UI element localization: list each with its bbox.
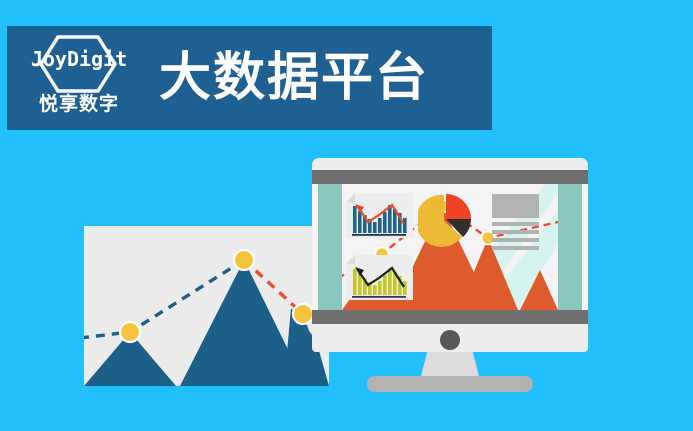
placeholder-line <box>492 246 539 250</box>
axis-line <box>352 296 406 298</box>
axis-line <box>352 234 406 236</box>
data-point-marker[interactable] <box>234 250 254 270</box>
left-mountain-chart-panel <box>84 226 329 386</box>
screen-pie-chart[interactable] <box>418 193 474 249</box>
placeholder-line <box>492 230 539 234</box>
screen-stripe-left <box>318 184 342 310</box>
mini-bar-card-blue[interactable] <box>346 193 413 238</box>
screen-dashboard <box>342 184 558 310</box>
brand-wordmark: JoyDigit <box>21 49 137 69</box>
brand-logo: JoyDigit 悦享数字 <box>21 33 137 123</box>
brand-subtitle: 悦享数字 <box>21 95 137 114</box>
poster-canvas: JoyDigit 悦享数字 大数据平台 <box>0 0 693 431</box>
mini-bar-card-yellow[interactable] <box>346 255 413 300</box>
monitor-top-band <box>312 170 588 184</box>
data-point-marker[interactable] <box>120 322 140 342</box>
screen-text-placeholder <box>492 194 539 250</box>
page-title: 大数据平台 <box>159 52 429 104</box>
header-banner: JoyDigit 悦享数字 大数据平台 <box>7 26 492 130</box>
screen-stripe-right <box>558 184 582 310</box>
power-button[interactable] <box>440 330 460 350</box>
mini-bar-chart-yellow <box>346 255 413 300</box>
desktop-monitor <box>312 158 588 392</box>
data-point-marker[interactable] <box>293 304 313 324</box>
monitor-bottom-band <box>312 310 588 324</box>
left-chart-svg <box>84 226 329 386</box>
pie-slice-red <box>446 194 471 219</box>
screen-mountain-c <box>520 270 558 310</box>
placeholder-line <box>492 238 539 242</box>
monitor-screen <box>312 184 588 310</box>
placeholder-block <box>492 194 539 218</box>
mini-bar-chart-blue <box>346 193 413 238</box>
placeholder-line <box>492 222 539 226</box>
monitor-stand-base <box>367 376 533 392</box>
